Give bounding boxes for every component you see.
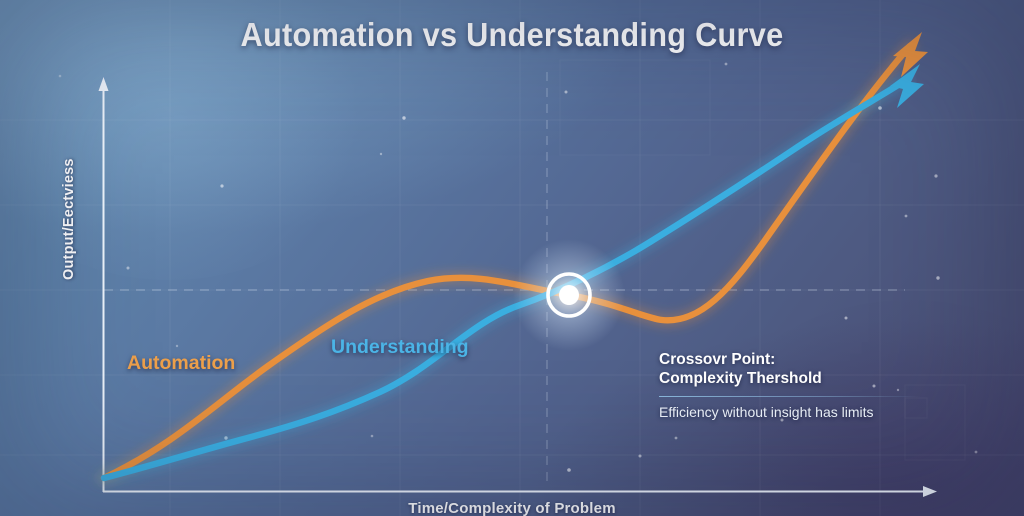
annotation-heading-line1: Crossovr Point: [659,350,921,369]
annotation-heading-line2: Complexity Thershold [659,369,921,388]
x-axis-label: Time/Complexity of Problem [0,500,1024,516]
curve-label-understanding: Understanding [331,336,469,359]
crossover-marker[interactable] [0,0,1024,516]
curve-label-automation: Automation [127,352,235,375]
crossover-marker-core [559,285,579,305]
chart-canvas: Automation vs Understanding Curve Output… [0,0,1024,516]
y-axis-label: Output/Eectviess [61,120,77,280]
page-title: Automation vs Understanding Curve [36,16,988,54]
annotation-divider [659,396,921,397]
annotation-subtext: Efficiency without insight has limits [659,404,921,421]
crossover-annotation: Crossovr Point: Complexity Thershold Eff… [659,350,921,421]
